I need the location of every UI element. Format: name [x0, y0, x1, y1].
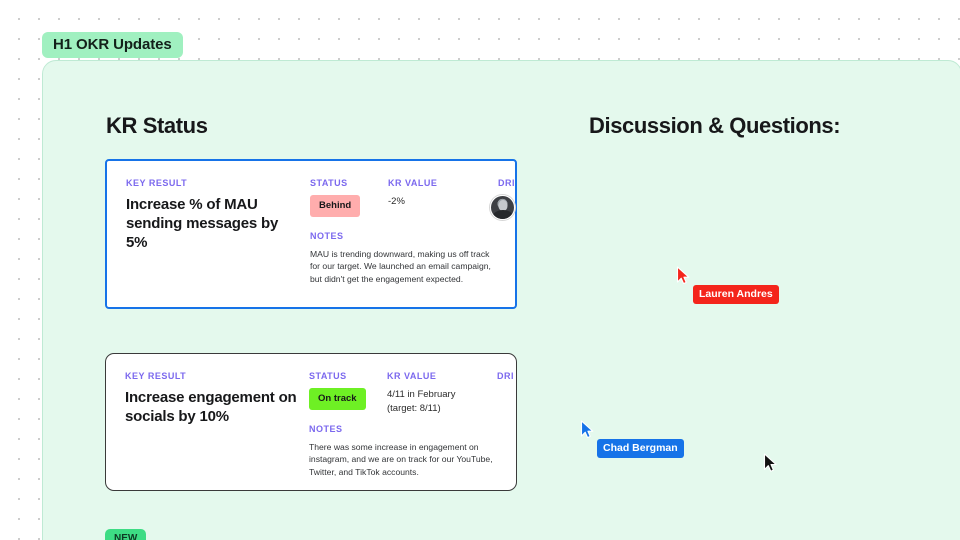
kr-card-notes-block: NOTES There was some increase in engagem…	[309, 424, 499, 478]
bottom-status-chip[interactable]: NEW	[105, 529, 146, 540]
kr-card[interactable]: KEY RESULT Increase engagement on social…	[105, 353, 517, 491]
kr-card-key-result-column: KEY RESULT Increase % of MAU sending mes…	[126, 178, 301, 253]
kr-card-status-column: STATUS On track	[309, 371, 379, 410]
design-canvas[interactable]: H1 OKR Updates KR Status Discussion & Qu…	[0, 0, 960, 540]
status-badge[interactable]: Behind	[310, 195, 360, 217]
collaborator-name-label: Lauren Andres	[693, 285, 779, 304]
page-title-discussion: Discussion & Questions:	[589, 113, 840, 139]
kr-card-status-column: STATUS Behind	[310, 178, 380, 217]
kr-title: Increase engagement on socials by 10%	[125, 388, 300, 426]
kr-value: -2%	[388, 195, 483, 209]
kr-card-value-column: KR VALUE -2%	[388, 178, 483, 209]
kr-notes-text: There was some increase in engagement on…	[309, 441, 499, 478]
column-header-dri: DRI	[475, 178, 515, 188]
column-header-notes: NOTES	[310, 231, 500, 241]
page-title-kr-status: KR Status	[106, 113, 208, 139]
kr-value: 4/11 in February (target: 8/11)	[387, 388, 482, 416]
frame-title-chip[interactable]: H1 OKR Updates	[42, 32, 183, 58]
kr-card-key-result-column: KEY RESULT Increase engagement on social…	[125, 371, 300, 426]
column-header-status: STATUS	[310, 178, 380, 188]
kr-card-notes-block: NOTES MAU is trending downward, making u…	[310, 231, 500, 285]
kr-card-selected[interactable]: KEY RESULT Increase % of MAU sending mes…	[105, 159, 517, 309]
column-header-kr-value: KR VALUE	[387, 371, 482, 381]
cursor-arrow-icon	[676, 266, 690, 285]
collaborator-cursor-lauren: Lauren Andres	[676, 266, 690, 285]
kr-notes-text: MAU is trending downward, making us off …	[310, 248, 500, 285]
column-header-notes: NOTES	[309, 424, 499, 434]
kr-card-dri-column: DRI	[474, 371, 514, 388]
column-header-key-result: KEY RESULT	[126, 178, 301, 188]
kr-card-value-column: KR VALUE 4/11 in February (target: 8/11)	[387, 371, 482, 416]
status-badge[interactable]: On track	[309, 388, 366, 410]
avatar[interactable]	[490, 195, 515, 220]
kr-card-dri-column: DRI	[475, 178, 515, 220]
kr-title: Increase % of MAU sending messages by 5%	[126, 195, 301, 253]
column-header-key-result: KEY RESULT	[125, 371, 300, 381]
mouse-pointer-icon	[763, 453, 777, 473]
collaborator-name-label: Chad Bergman	[597, 439, 684, 458]
column-header-dri: DRI	[474, 371, 514, 381]
collaborator-cursor-chad: Chad Bergman	[580, 420, 594, 439]
column-header-kr-value: KR VALUE	[388, 178, 483, 188]
column-header-status: STATUS	[309, 371, 379, 381]
slide-panel[interactable]: KR Status Discussion & Questions: KEY RE…	[42, 60, 960, 540]
cursor-arrow-icon	[580, 420, 594, 439]
